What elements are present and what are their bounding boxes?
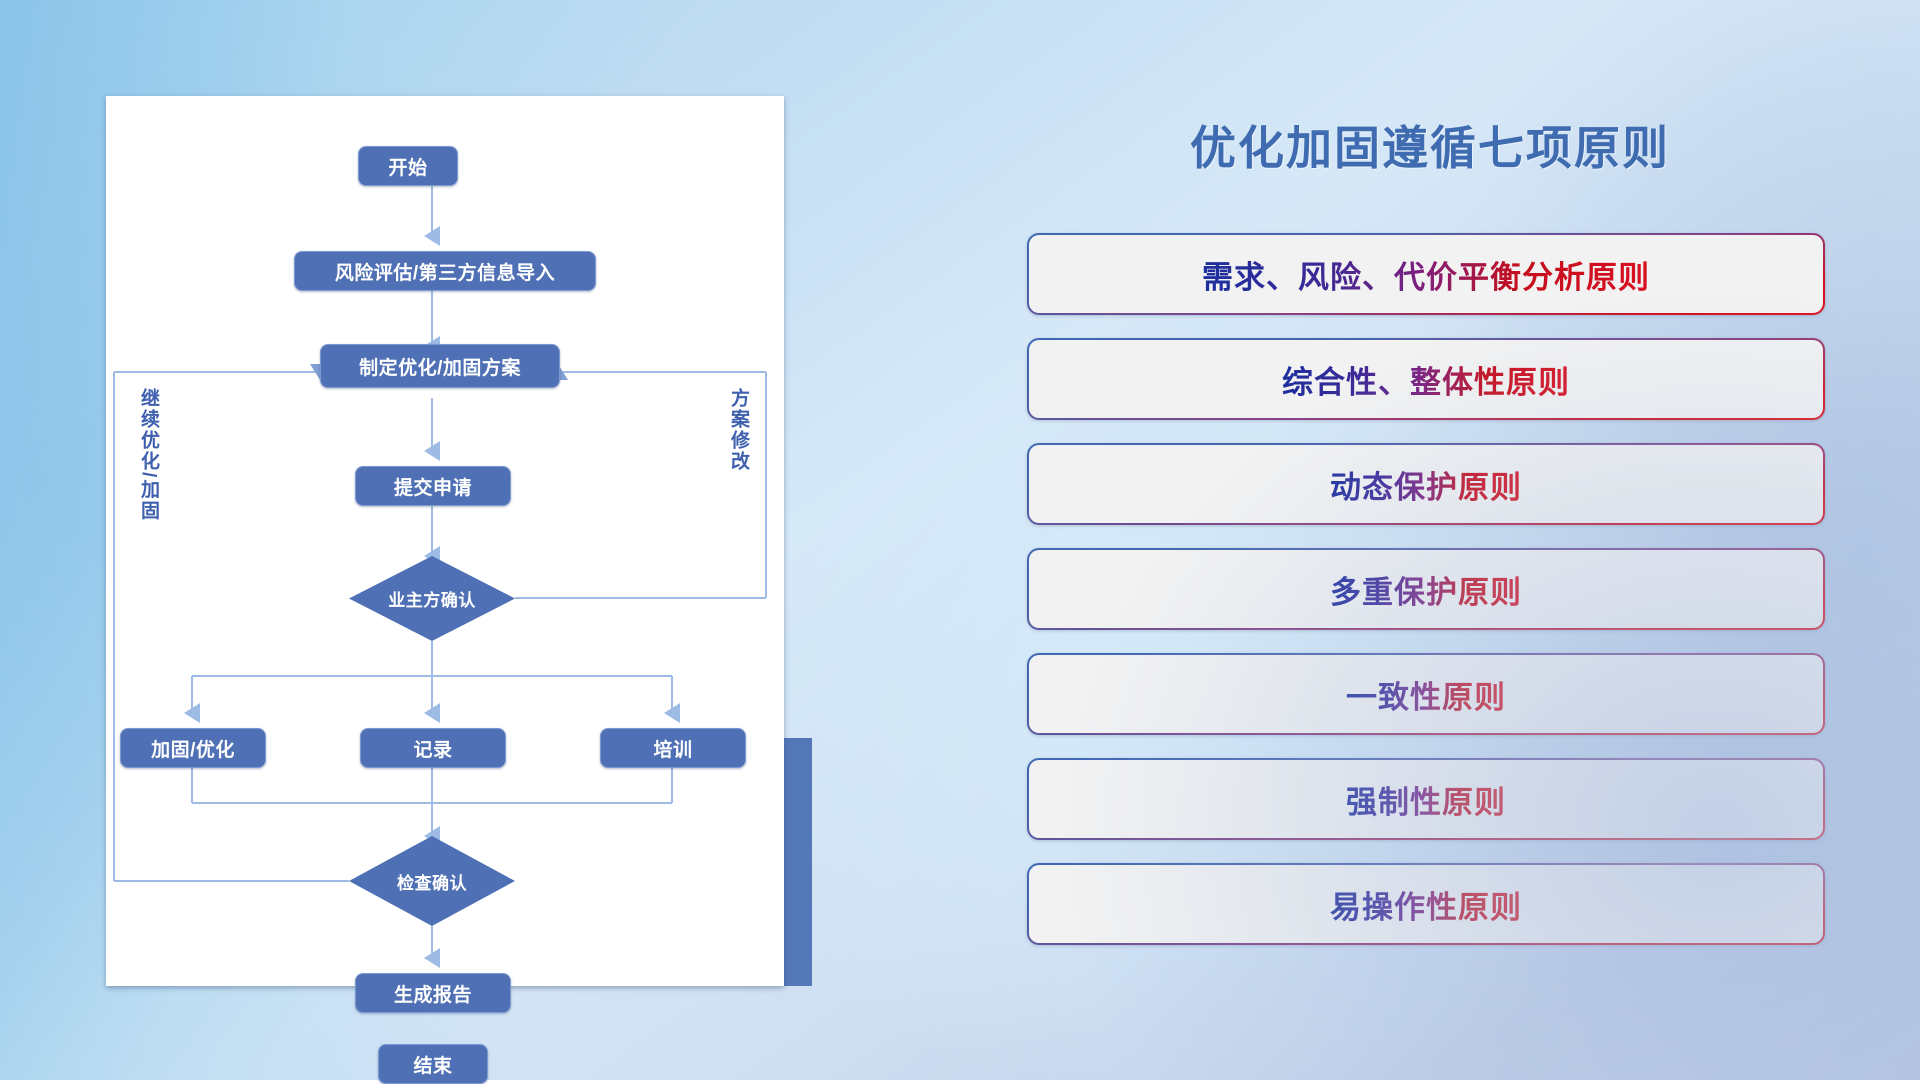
principle-label: 强制性原则 (1346, 777, 1506, 822)
principle-item[interactable]: 易操作性原则 (1027, 863, 1825, 945)
flowchart: 开始 风险评估/第三方信息导入 制定优化/加固方案 提交申请 业主方确认 加固/… (106, 96, 784, 986)
principle-label: 多重保护原则 (1330, 567, 1522, 612)
principle-item-inner: 动态保护原则 (1029, 445, 1823, 523)
principle-item-inner: 强制性原则 (1029, 760, 1823, 838)
flow-node-reinforce-optimize[interactable]: 加固/优化 (120, 728, 266, 768)
flow-node-label: 生成报告 (394, 980, 472, 1007)
flow-node-label: 制定优化/加固方案 (359, 353, 521, 380)
slide-canvas: 开始 风险评估/第三方信息导入 制定优化/加固方案 提交申请 业主方确认 加固/… (0, 0, 1920, 1080)
flow-node-label: 记录 (413, 735, 452, 762)
flow-node-make-plan[interactable]: 制定优化/加固方案 (320, 344, 560, 388)
flow-node-check-confirm[interactable]: 检查确认 (349, 836, 515, 926)
flow-node-label: 加固/优化 (151, 735, 235, 762)
principle-item-inner: 一致性原则 (1029, 655, 1823, 733)
flow-node-record[interactable]: 记录 (360, 728, 506, 768)
principle-item-inner: 易操作性原则 (1029, 865, 1823, 943)
flow-node-start[interactable]: 开始 (358, 146, 458, 186)
principles-list: 需求、风险、代价平衡分析原则 综合性、整体性原则 动态保护原则 多重保护原则 一… (1027, 233, 1825, 968)
flow-node-label: 检查确认 (397, 869, 467, 894)
principle-item[interactable]: 需求、风险、代价平衡分析原则 (1027, 233, 1825, 315)
principle-label: 综合性、整体性原则 (1282, 357, 1570, 402)
principle-item[interactable]: 综合性、整体性原则 (1027, 338, 1825, 420)
flow-node-owner-confirm[interactable]: 业主方确认 (349, 556, 515, 641)
principle-item[interactable]: 强制性原则 (1027, 758, 1825, 840)
flow-node-end[interactable]: 结束 (378, 1044, 488, 1084)
flow-node-label: 培训 (653, 735, 692, 762)
flowchart-card: 开始 风险评估/第三方信息导入 制定优化/加固方案 提交申请 业主方确认 加固/… (106, 96, 784, 986)
flow-node-training[interactable]: 培训 (600, 728, 746, 768)
page-title: 优化加固遵循七项原则 (1030, 112, 1830, 178)
flow-node-label: 结束 (413, 1051, 452, 1078)
flow-node-generate-report[interactable]: 生成报告 (355, 973, 511, 1013)
flow-node-label: 业主方确认 (388, 586, 476, 611)
flow-node-label: 提交申请 (394, 473, 472, 500)
flow-node-label: 开始 (388, 153, 427, 180)
principle-item-inner: 需求、风险、代价平衡分析原则 (1029, 235, 1823, 313)
principle-label: 易操作性原则 (1330, 882, 1522, 927)
flow-node-label: 风险评估/第三方信息导入 (335, 258, 555, 285)
edge-label-plan-revision: 方案修改 (728, 388, 748, 472)
principle-item-inner: 多重保护原则 (1029, 550, 1823, 628)
flow-node-submit-application[interactable]: 提交申请 (355, 466, 511, 506)
principle-label: 需求、风险、代价平衡分析原则 (1202, 252, 1650, 297)
principle-item[interactable]: 动态保护原则 (1027, 443, 1825, 525)
principle-item[interactable]: 一致性原则 (1027, 653, 1825, 735)
principle-label: 一致性原则 (1346, 672, 1506, 717)
flow-node-risk-assessment[interactable]: 风险评估/第三方信息导入 (294, 251, 596, 291)
principle-item-inner: 综合性、整体性原则 (1029, 340, 1823, 418)
edge-label-continue-optimize: 继续优化/加固 (138, 388, 158, 521)
principle-label: 动态保护原则 (1330, 462, 1522, 507)
principle-item[interactable]: 多重保护原则 (1027, 548, 1825, 630)
